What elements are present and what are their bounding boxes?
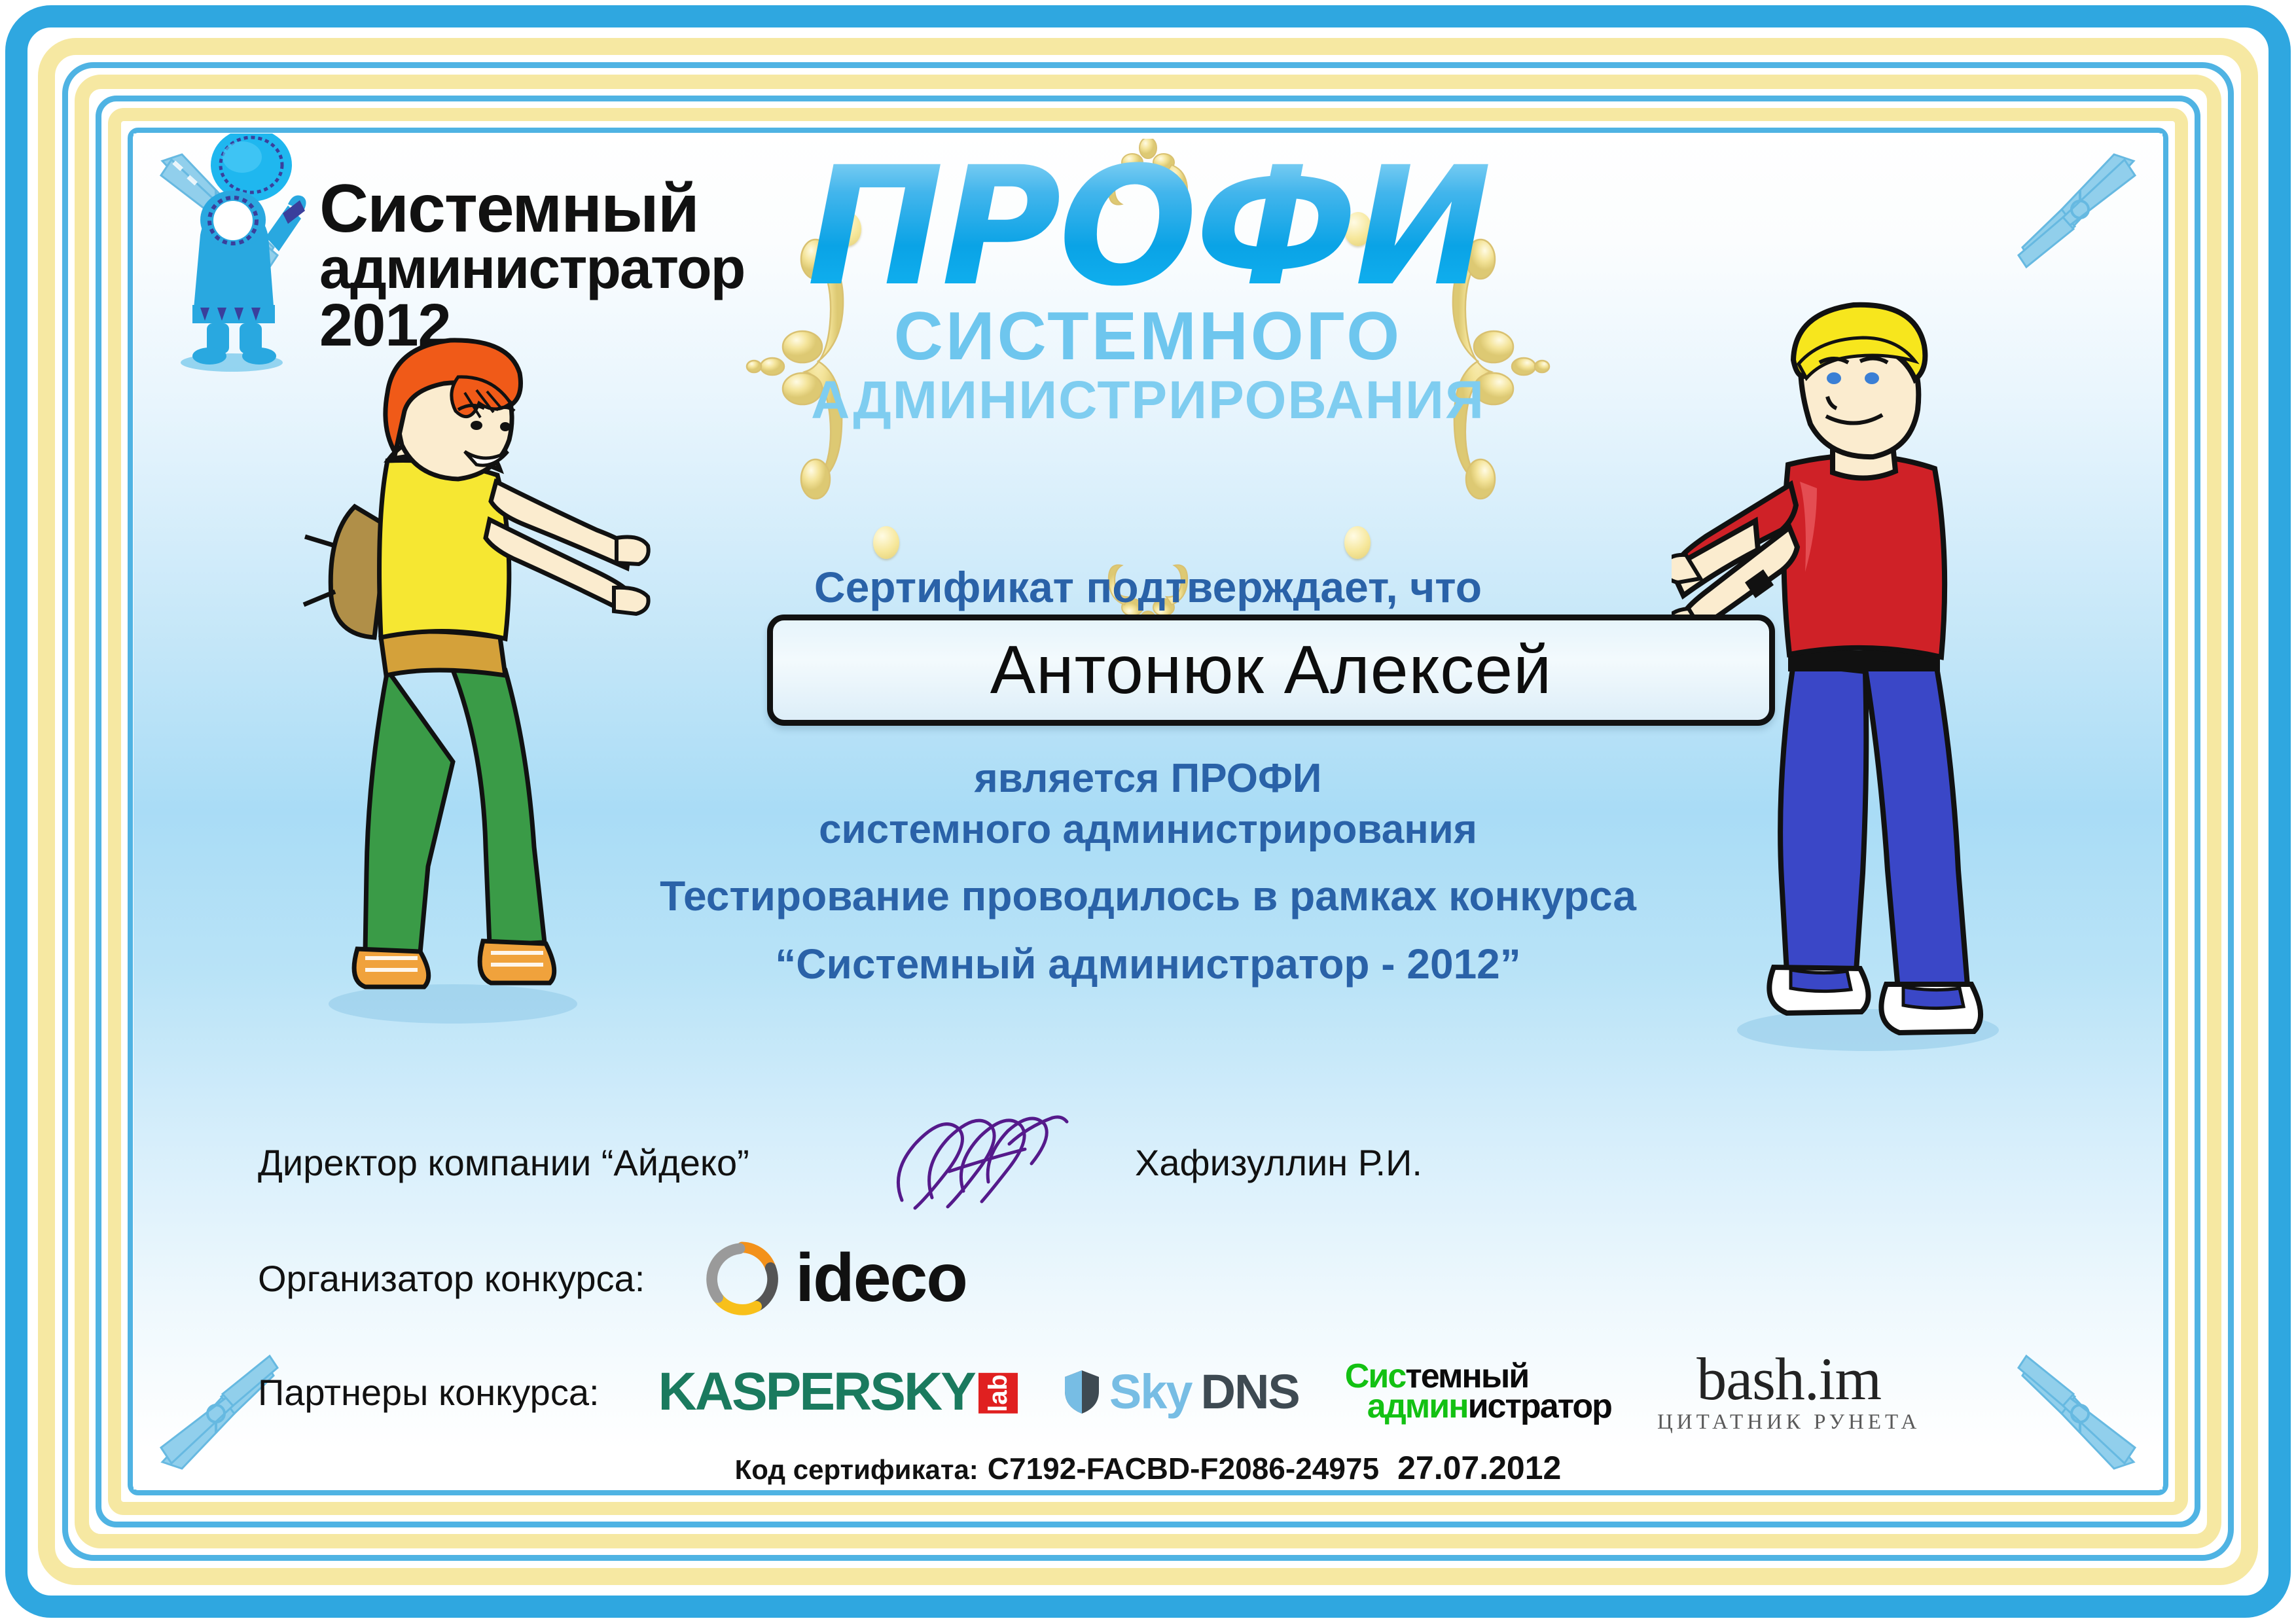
signature-title: Директор компании “Айдеко” xyxy=(258,1141,749,1184)
body-line-4: “Системный администратор - 2012” xyxy=(775,940,1521,988)
partners-label: Партнеры конкурса: xyxy=(258,1371,600,1414)
organizer-row: Организатор конкурса: ideco xyxy=(258,1240,967,1317)
organizer-label: Организатор конкурса: xyxy=(258,1257,645,1300)
skydns-dns-text: DNS xyxy=(1201,1368,1299,1416)
ideco-wordmark: ideco xyxy=(795,1244,967,1312)
ideco-logo: ideco xyxy=(704,1240,967,1317)
girl-illustration xyxy=(289,330,656,1030)
sysadmin-mark-line1: Системный xyxy=(319,178,744,241)
sysadmin-logo-green-2: админ xyxy=(1367,1387,1468,1425)
code-value: C7192-FACBD-F2086-24975 xyxy=(988,1451,1379,1486)
sysadmin-2012-mark: Системный администратор 2012 xyxy=(153,134,744,382)
handwritten-signature-icon xyxy=(886,1109,1083,1213)
certificate-page: Системный администратор 2012 xyxy=(0,0,2296,1623)
certificate-code-row: Код сертификата: C7192-FACBD-F2086-24975… xyxy=(735,1449,1562,1487)
crimping-tool-icon xyxy=(2009,1343,2140,1474)
profi-emblem: ПРОФИ СИСТЕМНОГО АДМИНИСТРИРОВАНИЯ xyxy=(762,149,1534,429)
skydns-sky-text: Sky xyxy=(1109,1368,1192,1416)
ornament-dot xyxy=(1344,526,1371,559)
sysadmin-magazine-logo: Системный администратор xyxy=(1345,1362,1611,1422)
eskimo-mascot-icon xyxy=(153,134,317,382)
bashim-logo: bash.im ЦИТАТНИК РУНЕТА xyxy=(1657,1351,1920,1433)
certificate-canvas: Системный администратор 2012 xyxy=(134,134,2162,1489)
partners-row: Партнеры конкурса: KASPERSKY lab Sky DNS… xyxy=(258,1351,1920,1433)
confirm-line: Сертификат подтверждает, что xyxy=(814,562,1482,612)
recipient-name-plate: Антонюк Алексей xyxy=(767,615,1775,726)
body-line-1: является ПРОФИ xyxy=(975,755,1322,802)
kaspersky-lab-logo: KASPERSKY lab xyxy=(658,1365,1018,1419)
body-line-2: системного администрирования xyxy=(819,806,1477,853)
bashim-wordmark: bash.im xyxy=(1657,1351,1920,1408)
recipient-name: Антонюк Алексей xyxy=(990,632,1552,709)
body-line-3: Тестирование проводилось в рамках конкур… xyxy=(660,872,1636,920)
ornament-dot xyxy=(873,526,899,559)
skydns-logo: Sky DNS xyxy=(1064,1368,1299,1416)
code-label: Код сертификата: xyxy=(735,1454,978,1486)
sysadmin-logo-black-2: истратор xyxy=(1468,1387,1611,1425)
profi-subtitle-2: АДМИНИСТРИРОВАНИЯ xyxy=(762,372,1534,429)
ideco-ring-icon xyxy=(704,1240,781,1317)
issue-date: 27.07.2012 xyxy=(1397,1449,1561,1487)
sysadmin-mark-line3: 2012 xyxy=(319,295,744,355)
kaspersky-lab-badge: lab xyxy=(978,1373,1018,1414)
bashim-tagline: ЦИТАТНИК РУНЕТА xyxy=(1657,1412,1920,1433)
sysadmin-mark-line2: администратор xyxy=(319,241,744,296)
signer-name: Хафизуллин Р.И. xyxy=(1135,1141,1422,1184)
shield-icon xyxy=(1064,1369,1100,1415)
kaspersky-wordmark: KASPERSKY xyxy=(658,1365,975,1419)
crimping-tool-icon xyxy=(2009,149,2140,280)
profi-word: ПРОФИ xyxy=(762,149,1534,305)
